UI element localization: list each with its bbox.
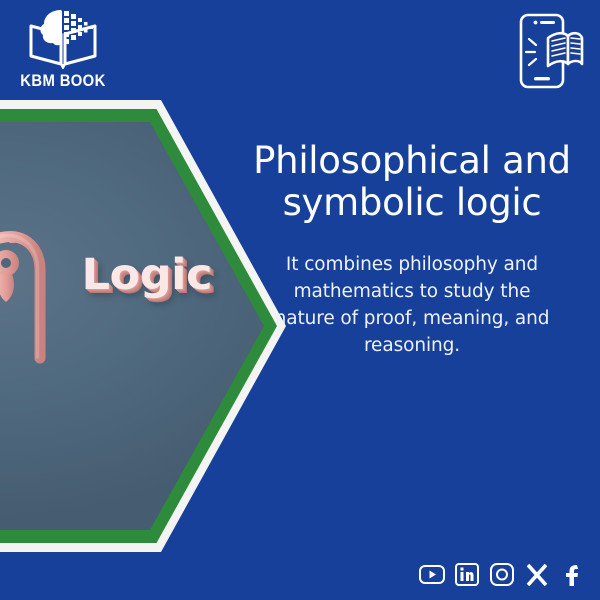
- hexagon-photo: Logic: [0, 122, 264, 530]
- social-link-x-twitter[interactable]: [523, 560, 551, 588]
- poster-canvas: KBM BOOK: [0, 0, 600, 600]
- logic-caption: Logic: [81, 250, 211, 300]
- brand-logo[interactable]: KBM BOOK: [8, 8, 118, 90]
- brand-name: KBM BOOK: [14, 73, 113, 90]
- instagram-icon: [488, 560, 516, 588]
- youtube-icon: [418, 560, 446, 588]
- facebook-icon: [558, 560, 586, 588]
- linkedin-icon: [453, 560, 481, 588]
- social-links: [418, 560, 586, 588]
- pink-question-mark-sculpture: [0, 218, 86, 390]
- page-description: It combines philosophy and mathematics t…: [262, 252, 562, 359]
- smartphone-open-book-icon: [512, 12, 584, 94]
- copy-block: Philosophical and symbolic logic It comb…: [236, 140, 588, 360]
- brain-book-pixel-icon: [27, 8, 99, 70]
- x-twitter-icon: [523, 560, 551, 588]
- page-title: Philosophical and symbolic logic: [236, 140, 588, 224]
- social-link-facebook[interactable]: [558, 560, 586, 588]
- social-link-linkedin[interactable]: [453, 560, 481, 588]
- social-link-instagram[interactable]: [488, 560, 516, 588]
- social-link-youtube[interactable]: [418, 560, 446, 588]
